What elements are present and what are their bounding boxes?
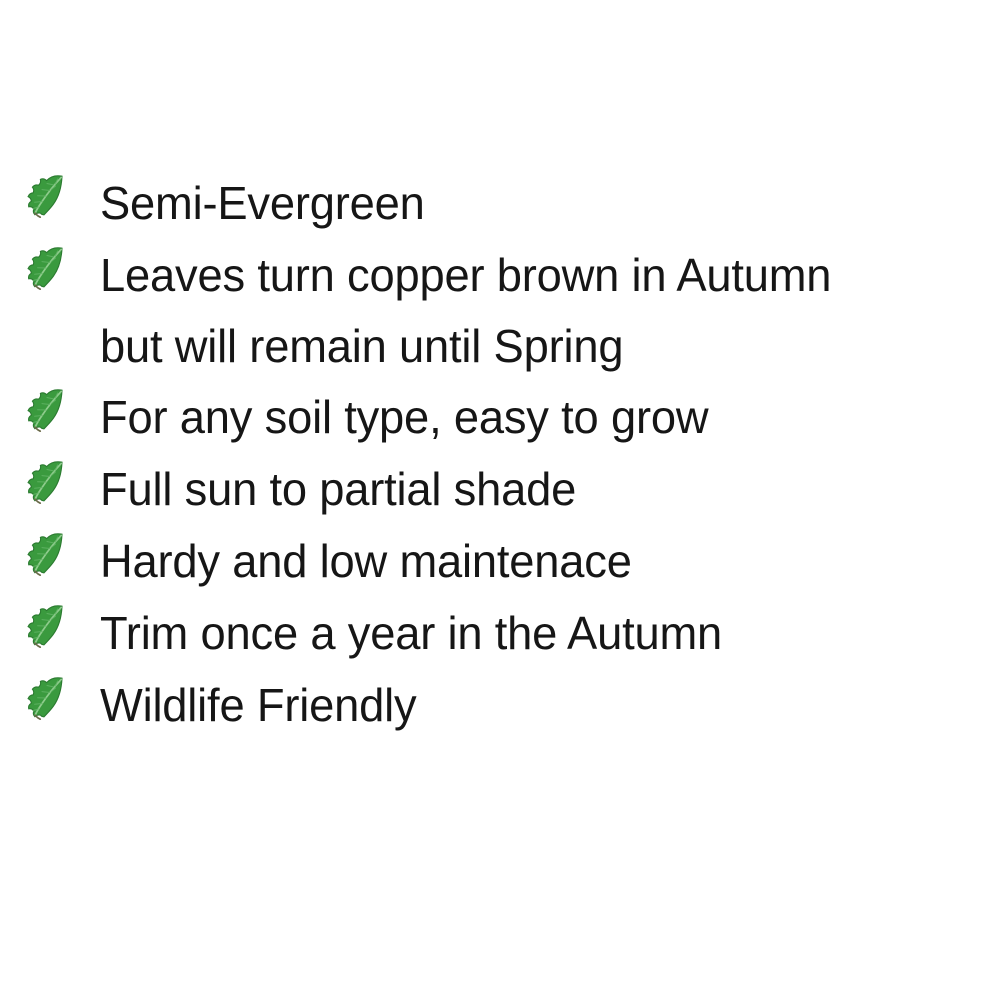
list-item: Leaves turn copper brown in Autumn but w… — [0, 240, 1000, 382]
feature-text: Full sun to partial shade — [100, 454, 987, 525]
list-item: Full sun to partial shade — [0, 454, 1000, 526]
leaf-icon — [24, 244, 70, 290]
feature-card: Semi-Evergreen — [0, 0, 1000, 1000]
feature-text: Wildlife Friendly — [100, 670, 987, 741]
feature-text: For any soil type, easy to grow — [100, 382, 987, 453]
list-item: Wildlife Friendly — [0, 670, 1000, 742]
list-item: Semi-Evergreen — [0, 168, 1000, 240]
leaf-icon — [24, 172, 70, 218]
feature-text: Hardy and low maintenace — [100, 526, 987, 597]
list-item: Hardy and low maintenace — [0, 526, 1000, 598]
leaf-icon — [24, 674, 70, 720]
leaf-icon — [24, 458, 70, 504]
list-item: Trim once a year in the Autumn — [0, 598, 1000, 670]
feature-list: Semi-Evergreen — [0, 168, 1000, 742]
feature-text: Trim once a year in the Autumn — [100, 598, 987, 669]
list-item: For any soil type, easy to grow — [0, 382, 1000, 454]
leaf-icon — [24, 602, 70, 648]
feature-text: Leaves turn copper brown in Autumn but w… — [100, 240, 987, 382]
feature-text: Semi-Evergreen — [100, 168, 987, 239]
leaf-icon — [24, 386, 70, 432]
leaf-icon — [24, 530, 70, 576]
